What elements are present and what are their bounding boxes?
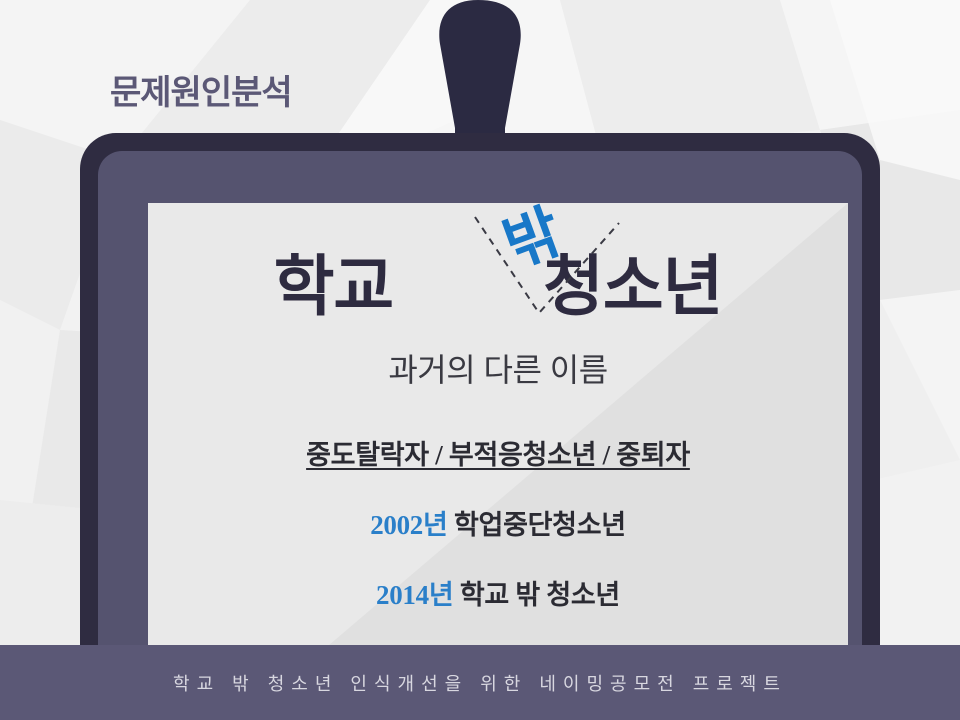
body-line: 2014년 학교 밖 청소년 [148,573,848,612]
screen-content: 학교청소년 밖 과거의 다른 이름 중도탈락자 / 부적응청소년 / 중퇴자 2… [148,203,848,697]
body-line: 중도탈락자 / 부적응청소년 / 중퇴자 [148,433,848,472]
slide-canvas: 문제원인분석 학교청소년 밖 [0,0,960,720]
headline-left: 학교 [274,249,393,323]
body-line-text: 학업중단청소년 [454,510,626,540]
tablet-inner-bezel: 학교청소년 밖 과거의 다른 이름 중도탈락자 / 부적응청소년 / 중퇴자 2… [98,151,862,693]
tablet-screen: 학교청소년 밖 과거의 다른 이름 중도탈락자 / 부적응청소년 / 중퇴자 2… [148,203,848,697]
dashed-check-icon: 밖 [467,209,627,329]
sub-headline: 과거의 다른 이름 [148,345,848,391]
footer-caption: 학교 밖 청소년 인식개선을 위한 네이밍공모전 프로젝트 [0,645,960,720]
tablet-device-frame: 학교청소년 밖 과거의 다른 이름 중도탈락자 / 부적응청소년 / 중퇴자 2… [80,133,880,693]
page-title: 문제원인분석 [110,65,292,114]
body-line: 2002년 학업중단청소년 [148,503,848,542]
year-label: 2014년 [376,580,453,610]
body-line-list: 중도탈락자 / 부적응청소년 / 중퇴자 2002년 학업중단청소년 2014년… [148,433,848,643]
body-line-text: 학교 밖 청소년 [460,580,620,610]
footer-bar: 학교 밖 청소년 인식개선을 위한 네이밍공모전 프로젝트 [0,645,960,720]
year-label: 2002년 [370,510,447,540]
